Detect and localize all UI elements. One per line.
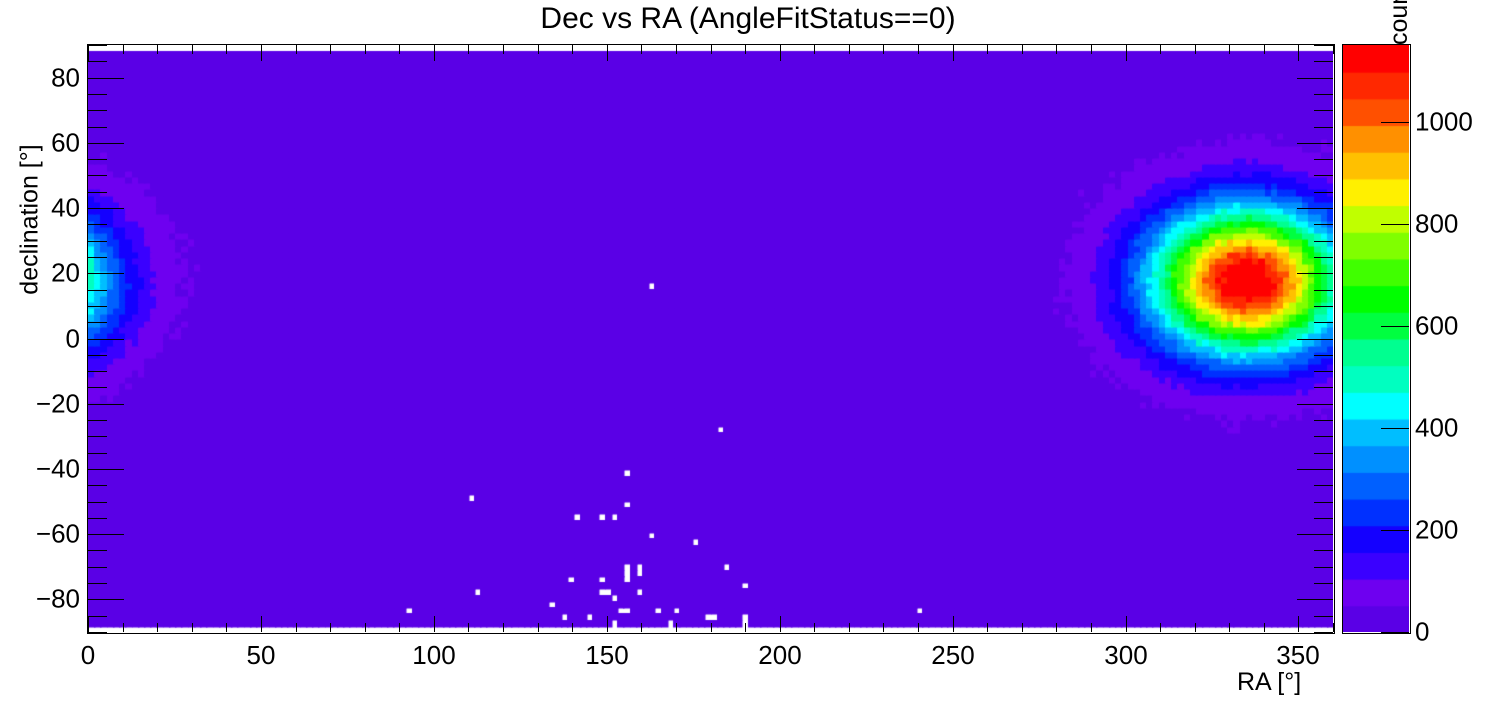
color-palette-bar[interactable] <box>1343 45 1409 632</box>
y-tick-label: 0 <box>10 324 80 355</box>
y-tick-minor <box>88 306 107 307</box>
y-tick-major <box>88 599 124 600</box>
x-tick-minor-top <box>1160 45 1161 54</box>
y-tick-minor <box>88 45 107 46</box>
x-tick-major <box>780 616 781 632</box>
x-tick-major-top <box>261 45 262 61</box>
y-tick-minor-right <box>1314 45 1333 46</box>
z-tick <box>1381 326 1409 327</box>
y-tick-minor <box>88 61 107 62</box>
y-tick-major <box>88 339 124 340</box>
y-tick-minor <box>88 241 107 242</box>
x-tick-major <box>261 616 262 632</box>
z-tick <box>1381 530 1409 531</box>
y-tick-minor <box>88 371 107 372</box>
x-tick-minor <box>745 623 746 632</box>
y-tick-major-right <box>1297 469 1333 470</box>
y-tick-minor <box>88 257 107 258</box>
x-tick-minor <box>572 623 573 632</box>
x-tick-minor <box>883 623 884 632</box>
x-tick-minor-top <box>365 45 366 54</box>
x-tick-minor <box>1264 623 1265 632</box>
y-tick-minor <box>88 110 107 111</box>
y-tick-label: 80 <box>10 63 80 94</box>
y-tick-minor-right <box>1314 175 1333 176</box>
x-tick-minor-top <box>503 45 504 54</box>
x-tick-minor <box>1195 623 1196 632</box>
x-tick-minor <box>157 623 158 632</box>
y-tick-minor-right <box>1314 159 1333 160</box>
y-tick-minor-right <box>1314 632 1333 633</box>
y-tick-minor-right <box>1314 518 1333 519</box>
y-tick-major-right <box>1297 339 1333 340</box>
y-axis-title: declination [°] <box>16 120 45 320</box>
y-tick-major <box>88 534 124 535</box>
y-tick-minor <box>88 436 107 437</box>
z-tick <box>1381 122 1409 123</box>
x-tick-minor-top <box>157 45 158 54</box>
x-tick-minor-top <box>296 45 297 54</box>
x-tick-minor-top <box>192 45 193 54</box>
y-tick-minor-right <box>1314 61 1333 62</box>
y-tick-minor-right <box>1314 322 1333 323</box>
x-tick-minor-top <box>468 45 469 54</box>
x-tick-minor-top <box>1056 45 1057 54</box>
x-tick-minor-top <box>123 45 124 54</box>
y-tick-minor <box>88 632 107 633</box>
y-tick-minor <box>88 420 107 421</box>
x-tick-minor-top <box>676 45 677 54</box>
y-tick-minor <box>88 192 107 193</box>
x-tick-minor <box>365 623 366 632</box>
x-tick-minor <box>1091 623 1092 632</box>
y-tick-minor <box>88 355 107 356</box>
x-tick-minor <box>330 623 331 632</box>
y-tick-major <box>88 273 124 274</box>
x-axis-title: RA [°] <box>1237 668 1301 697</box>
z-tick <box>1381 224 1409 225</box>
y-tick-minor-right <box>1314 257 1333 258</box>
x-tick-major <box>1298 616 1299 632</box>
y-tick-minor <box>88 550 107 551</box>
x-tick-minor <box>641 623 642 632</box>
x-tick-minor-top <box>711 45 712 54</box>
x-tick-minor <box>192 623 193 632</box>
x-tick-minor-top <box>399 45 400 54</box>
y-tick-minor-right <box>1314 127 1333 128</box>
x-tick-minor-top <box>1022 45 1023 54</box>
x-tick-minor-top <box>883 45 884 54</box>
y-tick-minor-right <box>1314 502 1333 503</box>
x-tick-major-top <box>780 45 781 61</box>
y-tick-minor <box>88 502 107 503</box>
y-tick-minor <box>88 290 107 291</box>
y-tick-minor-right <box>1314 290 1333 291</box>
y-tick-minor-right <box>1314 224 1333 225</box>
y-tick-minor <box>88 583 107 584</box>
y-tick-label: −80 <box>10 584 80 615</box>
x-tick-major-top <box>434 45 435 61</box>
y-tick-minor-right <box>1314 485 1333 486</box>
x-tick-minor <box>1229 623 1230 632</box>
y-tick-major-right <box>1297 599 1333 600</box>
x-tick-minor-top <box>226 45 227 54</box>
root-canvas: Dec vs RA (AngleFitStatus==0) 0501001502… <box>0 0 1496 722</box>
x-tick-minor <box>1056 623 1057 632</box>
y-tick-minor <box>88 127 107 128</box>
x-tick-label: 300 <box>1104 640 1147 671</box>
histogram-plot-area[interactable] <box>88 45 1333 632</box>
x-tick-major-top <box>88 45 89 61</box>
x-tick-minor-top <box>849 45 850 54</box>
x-tick-minor-top <box>1091 45 1092 54</box>
y-tick-minor-right <box>1314 436 1333 437</box>
z-tick-label: 800 <box>1415 209 1458 240</box>
x-tick-label: 200 <box>758 640 801 671</box>
y-tick-minor-right <box>1314 371 1333 372</box>
y-tick-minor <box>88 616 107 617</box>
x-tick-minor <box>468 623 469 632</box>
y-tick-minor-right <box>1314 94 1333 95</box>
y-tick-minor-right <box>1314 110 1333 111</box>
x-tick-minor <box>123 623 124 632</box>
x-tick-label: 100 <box>412 640 455 671</box>
x-tick-major-top <box>1126 45 1127 61</box>
y-tick-major-right <box>1297 78 1333 79</box>
y-tick-minor <box>88 387 107 388</box>
z-axis-title: count <box>1385 0 1414 45</box>
y-tick-label: −20 <box>10 389 80 420</box>
x-tick-major <box>953 616 954 632</box>
y-tick-major <box>88 143 124 144</box>
x-tick-minor-top <box>745 45 746 54</box>
y-tick-minor <box>88 453 107 454</box>
x-tick-major-top <box>1298 45 1299 61</box>
x-tick-minor-top <box>918 45 919 54</box>
z-tick-label: 400 <box>1415 413 1458 444</box>
z-tick <box>1381 428 1409 429</box>
y-tick-minor <box>88 224 107 225</box>
x-tick-label: 150 <box>585 640 628 671</box>
x-tick-minor <box>1160 623 1161 632</box>
y-tick-label: −40 <box>10 454 80 485</box>
page-title: Dec vs RA (AngleFitStatus==0) <box>0 2 1496 36</box>
y-tick-label: −60 <box>10 519 80 550</box>
y-tick-major-right <box>1297 143 1333 144</box>
x-tick-label: 350 <box>1276 640 1319 671</box>
z-tick-label: 1000 <box>1415 107 1473 138</box>
y-tick-minor <box>88 94 107 95</box>
y-tick-minor <box>88 567 107 568</box>
y-tick-minor-right <box>1314 306 1333 307</box>
y-tick-minor-right <box>1314 387 1333 388</box>
x-tick-minor <box>849 623 850 632</box>
z-tick-label: 0 <box>1415 617 1429 648</box>
x-tick-minor-top <box>1229 45 1230 54</box>
x-tick-major <box>88 616 89 632</box>
x-tick-minor-top <box>1264 45 1265 54</box>
y-tick-major-right <box>1297 404 1333 405</box>
x-tick-minor <box>987 623 988 632</box>
x-tick-minor-top <box>538 45 539 54</box>
x-tick-major-top <box>607 45 608 61</box>
x-tick-minor <box>399 623 400 632</box>
z-tick-label: 200 <box>1415 515 1458 546</box>
z-tick <box>1381 632 1409 633</box>
y-tick-major-right <box>1297 273 1333 274</box>
x-tick-minor <box>226 623 227 632</box>
y-tick-major <box>88 404 124 405</box>
x-tick-minor <box>1333 623 1334 632</box>
x-tick-minor <box>538 623 539 632</box>
x-tick-minor-top <box>1195 45 1196 54</box>
x-tick-minor <box>711 623 712 632</box>
y-tick-major <box>88 78 124 79</box>
y-tick-minor-right <box>1314 241 1333 242</box>
y-tick-minor <box>88 175 107 176</box>
y-tick-minor-right <box>1314 420 1333 421</box>
y-tick-major-right <box>1297 534 1333 535</box>
x-tick-minor-top <box>572 45 573 54</box>
y-tick-minor-right <box>1314 616 1333 617</box>
y-tick-minor <box>88 322 107 323</box>
y-tick-minor-right <box>1314 453 1333 454</box>
y-tick-major-right <box>1297 208 1333 209</box>
y-tick-major <box>88 208 124 209</box>
x-tick-major <box>607 616 608 632</box>
x-tick-minor <box>1022 623 1023 632</box>
y-tick-minor-right <box>1314 355 1333 356</box>
x-tick-minor <box>503 623 504 632</box>
x-tick-minor-top <box>814 45 815 54</box>
x-tick-minor <box>918 623 919 632</box>
y-tick-minor-right <box>1314 192 1333 193</box>
x-tick-minor <box>296 623 297 632</box>
x-tick-label: 250 <box>931 640 974 671</box>
x-tick-minor <box>814 623 815 632</box>
y-tick-minor-right <box>1314 583 1333 584</box>
x-tick-major <box>434 616 435 632</box>
y-tick-major <box>88 469 124 470</box>
x-tick-minor-top <box>641 45 642 54</box>
x-tick-minor-top <box>987 45 988 54</box>
x-tick-major-top <box>953 45 954 61</box>
y-tick-minor-right <box>1314 567 1333 568</box>
x-tick-major <box>1126 616 1127 632</box>
y-tick-minor <box>88 518 107 519</box>
y-tick-minor-right <box>1314 550 1333 551</box>
y-tick-minor <box>88 485 107 486</box>
y-tick-minor <box>88 159 107 160</box>
x-tick-minor-top <box>330 45 331 54</box>
x-tick-minor <box>676 623 677 632</box>
x-tick-label: 0 <box>81 640 95 671</box>
x-tick-minor-top <box>1333 45 1334 54</box>
z-tick-label: 600 <box>1415 311 1458 342</box>
x-tick-label: 50 <box>247 640 276 671</box>
